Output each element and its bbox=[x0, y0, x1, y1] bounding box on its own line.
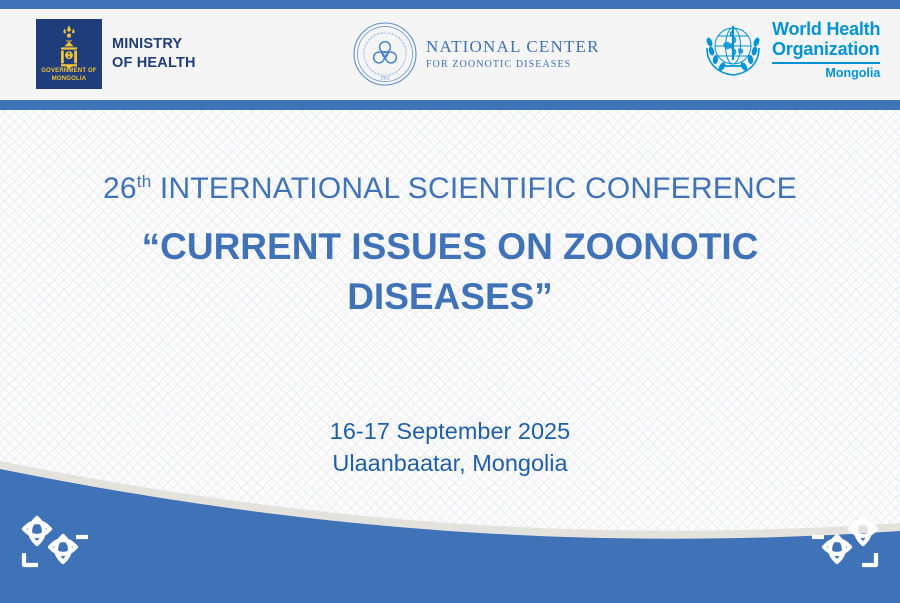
footer-wave bbox=[0, 453, 900, 603]
page-title: “CURRENT ISSUES ON ZOONOTIC DISEASES” bbox=[0, 222, 900, 322]
conference-number: 26 bbox=[103, 172, 137, 205]
ministry-crest-line-2: MONGOLIA bbox=[36, 75, 102, 83]
event-dates: 16-17 September 2025 bbox=[0, 415, 900, 447]
logo-who-mongolia: World Health Organization Mongolia bbox=[702, 20, 880, 80]
conference-ordinal-suffix: th bbox=[137, 172, 152, 191]
mongolian-ulzii-knot-right-icon bbox=[800, 507, 882, 573]
ministry-crest-caption: GOVERNMENT OF MONGOLIA bbox=[36, 67, 102, 83]
ministry-crest: GOVERNMENT OF MONGOLIA bbox=[36, 19, 102, 89]
biohazard-seal-icon: . 1951 bbox=[352, 21, 418, 87]
top-accent-rule bbox=[0, 0, 900, 9]
ministry-crest-line-1: GOVERNMENT OF bbox=[36, 67, 102, 75]
conference-subtitle: 26th INTERNATIONAL SCIENTIFIC CONFERENCE bbox=[0, 170, 900, 208]
who-country: Mongolia bbox=[772, 66, 880, 80]
ministry-name: MINISTRY OF HEALTH bbox=[112, 35, 196, 73]
who-divider bbox=[772, 62, 880, 64]
conference-label: INTERNATIONAL SCIENTIFIC CONFERENCE bbox=[160, 172, 797, 205]
title-block: 26th INTERNATIONAL SCIENTIFIC CONFERENCE… bbox=[0, 170, 900, 322]
conference-title-slide: GOVERNMENT OF MONGOLIA MINISTRY OF HEALT… bbox=[0, 0, 900, 603]
seal-year: 1951 bbox=[380, 77, 391, 82]
who-globe-icon bbox=[702, 20, 764, 80]
header-accent-rule bbox=[0, 100, 900, 110]
logo-ministry-of-health: GOVERNMENT OF MONGOLIA MINISTRY OF HEALT… bbox=[36, 19, 196, 89]
national-center-line-2: FOR ZOONOTIC DISEASES bbox=[426, 59, 600, 71]
mongolian-ulzii-knot-left-icon bbox=[18, 507, 100, 573]
soyombo-icon bbox=[52, 24, 86, 70]
who-line-1: World Health bbox=[772, 20, 880, 40]
national-center-name: NATIONAL CENTER FOR ZOONOTIC DISEASES bbox=[426, 37, 600, 70]
who-line-2: Organization bbox=[772, 40, 880, 60]
national-center-line-1: NATIONAL CENTER bbox=[426, 37, 600, 57]
logo-national-center-zoonotic-diseases: . 1951 NATIONAL CENTER FOR ZOONOTIC DISE… bbox=[352, 21, 600, 87]
who-name: World Health Organization Mongolia bbox=[772, 20, 880, 80]
